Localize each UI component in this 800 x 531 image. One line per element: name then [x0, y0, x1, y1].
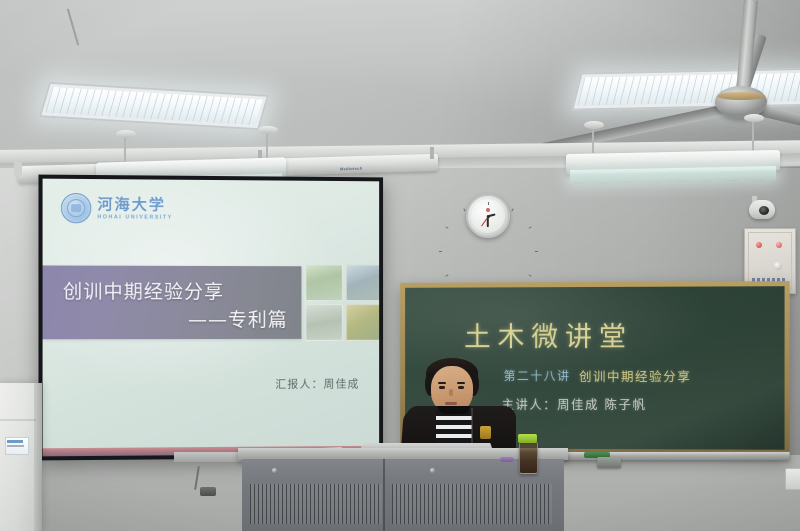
desk-screw [272, 468, 277, 473]
presenter-eyebrow [438, 382, 446, 384]
cabinet-edge [34, 383, 42, 531]
presenter-eyebrow [457, 382, 465, 384]
presenter-nose [449, 389, 453, 396]
fixture-ceiling-cap [744, 114, 764, 122]
presenter-eye [439, 386, 445, 389]
fixture-hanger-wire [124, 135, 126, 163]
clock-brand-dot [486, 208, 490, 212]
wall-mounted-device [200, 487, 216, 496]
presenter-collar [438, 406, 470, 414]
hanging-light-fixture-right [566, 150, 780, 174]
blackboard-lecture-topic: 创训中期经验分享 [579, 366, 691, 385]
shirt-stripe [436, 416, 472, 420]
purple-marker[interactable] [500, 457, 514, 462]
fixture-ceiling-cap [584, 121, 604, 129]
cabinet-label-text [7, 445, 24, 447]
presenter-mouth [445, 402, 457, 405]
fixture-hanger-wire [592, 125, 594, 153]
wall-light-switch[interactable] [785, 468, 800, 490]
waterwheel-photo [345, 264, 379, 301]
ceiling-fan-ring [717, 92, 765, 100]
slide-title-sub: ——专利篇 [188, 305, 288, 332]
panel-indicator-led [756, 242, 762, 248]
slide-surface: 河海大学 HOHAI UNIVERSITY 创训中期经验分享 ——专利篇 汇报人… [43, 179, 380, 457]
wall-clock [466, 194, 510, 238]
classroom-scene: Mediotech 河海大学 HOHAI UNIVERSITY 创训中期经 [0, 0, 800, 531]
desk-vent-grille [392, 484, 552, 524]
rock-garden-photo [305, 304, 342, 341]
ceiling-fan-hub [715, 86, 767, 118]
university-seal-icon [61, 193, 91, 223]
cabinet-door-seam [0, 419, 36, 421]
university-logo: 河海大学 HOHAI UNIVERSITY [61, 193, 173, 224]
clock-tick [535, 251, 538, 252]
roller-bracket [430, 147, 434, 159]
slide-title-band: 创训中期经验分享 ——专利篇 [43, 265, 302, 339]
clock-tick [488, 202, 489, 205]
fixture-hanger-wire [752, 118, 754, 152]
university-name-cn: 河海大学 [97, 197, 172, 213]
panel-knob[interactable] [774, 262, 782, 270]
desk-vent-grille [250, 484, 382, 524]
light-grille [45, 87, 262, 125]
blackboard-speakers: 主讲人：周佳成 陈子帆 [502, 394, 647, 413]
fixture-ceiling-cap [258, 126, 278, 134]
willow-lake-photo [305, 264, 342, 301]
bottle-cap [518, 434, 537, 443]
slide-presenter-line: 汇报人：周佳成 [275, 375, 359, 391]
desk-panel-divider [383, 459, 385, 531]
clock-face [471, 199, 505, 233]
jacket-chest-logo [480, 426, 491, 439]
clock-center-pin [487, 215, 490, 218]
panel-indicator-led [776, 242, 782, 248]
university-name-en: HOHAI UNIVERSITY [97, 214, 172, 220]
presenter-eye [458, 386, 464, 389]
camera-lens [759, 206, 769, 215]
shirt-stripe [436, 425, 472, 429]
roller-brand-label: Mediotech [340, 166, 362, 172]
blackboard-eraser[interactable] [597, 457, 621, 468]
campus-garden-photo [345, 304, 379, 341]
clock-tick [439, 251, 442, 252]
desk-screw [430, 468, 435, 473]
fixture-ceiling-cap [116, 130, 136, 138]
slide-photo-grid [305, 264, 379, 341]
blackboard-heading: 土木微讲堂 [464, 315, 633, 354]
cabinet-label-bar [7, 440, 23, 443]
fixture-hanger-wire [266, 130, 268, 160]
roller-end-cap [14, 162, 22, 176]
desk-side-ledge [174, 452, 244, 462]
slide-title-main: 创训中期经验分享 [63, 277, 224, 304]
projection-screen[interactable]: 河海大学 HOHAI UNIVERSITY 创训中期经验分享 ——专利篇 汇报人… [38, 175, 383, 461]
water-bottle[interactable] [519, 441, 538, 474]
shirt-stripe [436, 434, 472, 438]
